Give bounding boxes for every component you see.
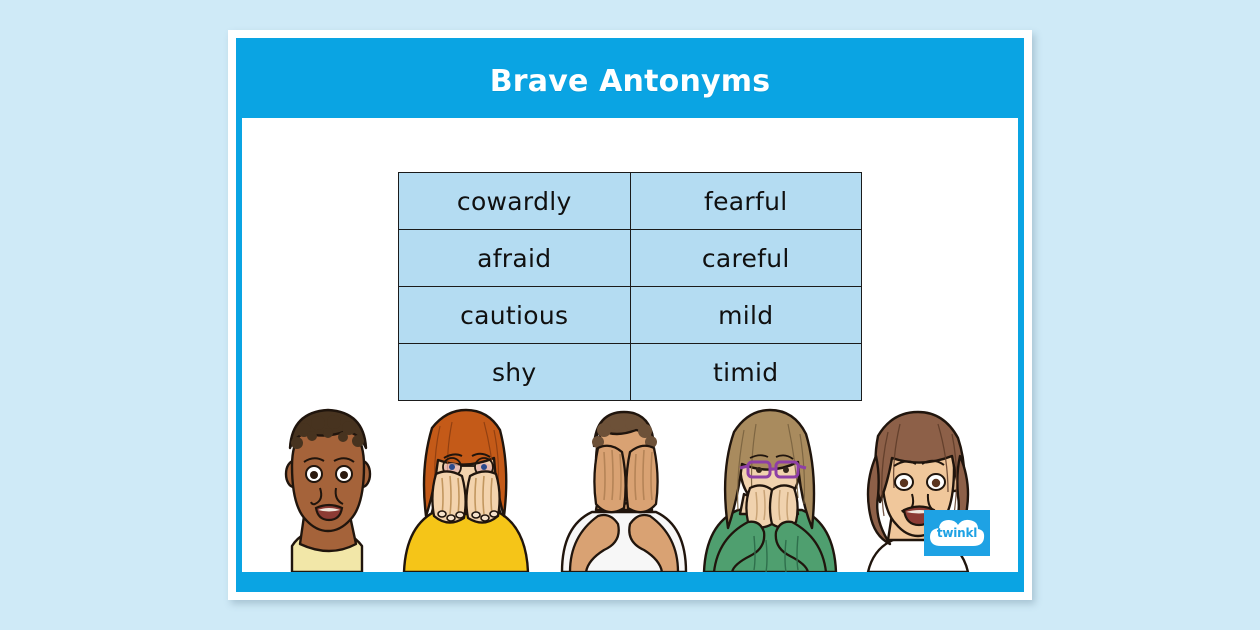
poster-inner-frame: Brave Antonyms cowardly fearful afraid c…	[236, 38, 1024, 592]
page-title: Brave Antonyms	[490, 64, 771, 99]
illustration-row: twinkl	[242, 392, 1018, 572]
twinkl-logo: twinkl	[924, 510, 990, 556]
table-cell-word: mild	[630, 287, 862, 344]
cloud-icon: twinkl	[928, 518, 986, 548]
table-cell-word: cowardly	[399, 173, 631, 230]
title-banner: Brave Antonyms	[242, 44, 1018, 118]
table-cell-word: afraid	[399, 230, 631, 287]
table-row: cautious mild	[399, 287, 862, 344]
word-table-container: cowardly fearful afraid careful cautious…	[242, 172, 1018, 401]
table-cell-word: careful	[630, 230, 862, 287]
table-cell-word: cautious	[399, 287, 631, 344]
illustration-nervous-girl-purple-glasses	[694, 402, 846, 572]
footer-strip	[242, 572, 1018, 586]
table-row: cowardly fearful	[399, 173, 862, 230]
poster-card: Brave Antonyms cowardly fearful afraid c…	[228, 30, 1032, 600]
table-row: afraid careful	[399, 230, 862, 287]
twinkl-wordmark: twinkl	[928, 526, 986, 540]
table-cell-word: fearful	[630, 173, 862, 230]
illustration-scared-girl-red-hair	[392, 404, 540, 572]
illustration-shocked-boy-dark-skin	[264, 396, 392, 572]
illustration-hiding-boy-curly-hair	[554, 404, 694, 572]
antonyms-table: cowardly fearful afraid careful cautious…	[398, 172, 862, 401]
screenshot-stage: Brave Antonyms cowardly fearful afraid c…	[0, 0, 1260, 630]
